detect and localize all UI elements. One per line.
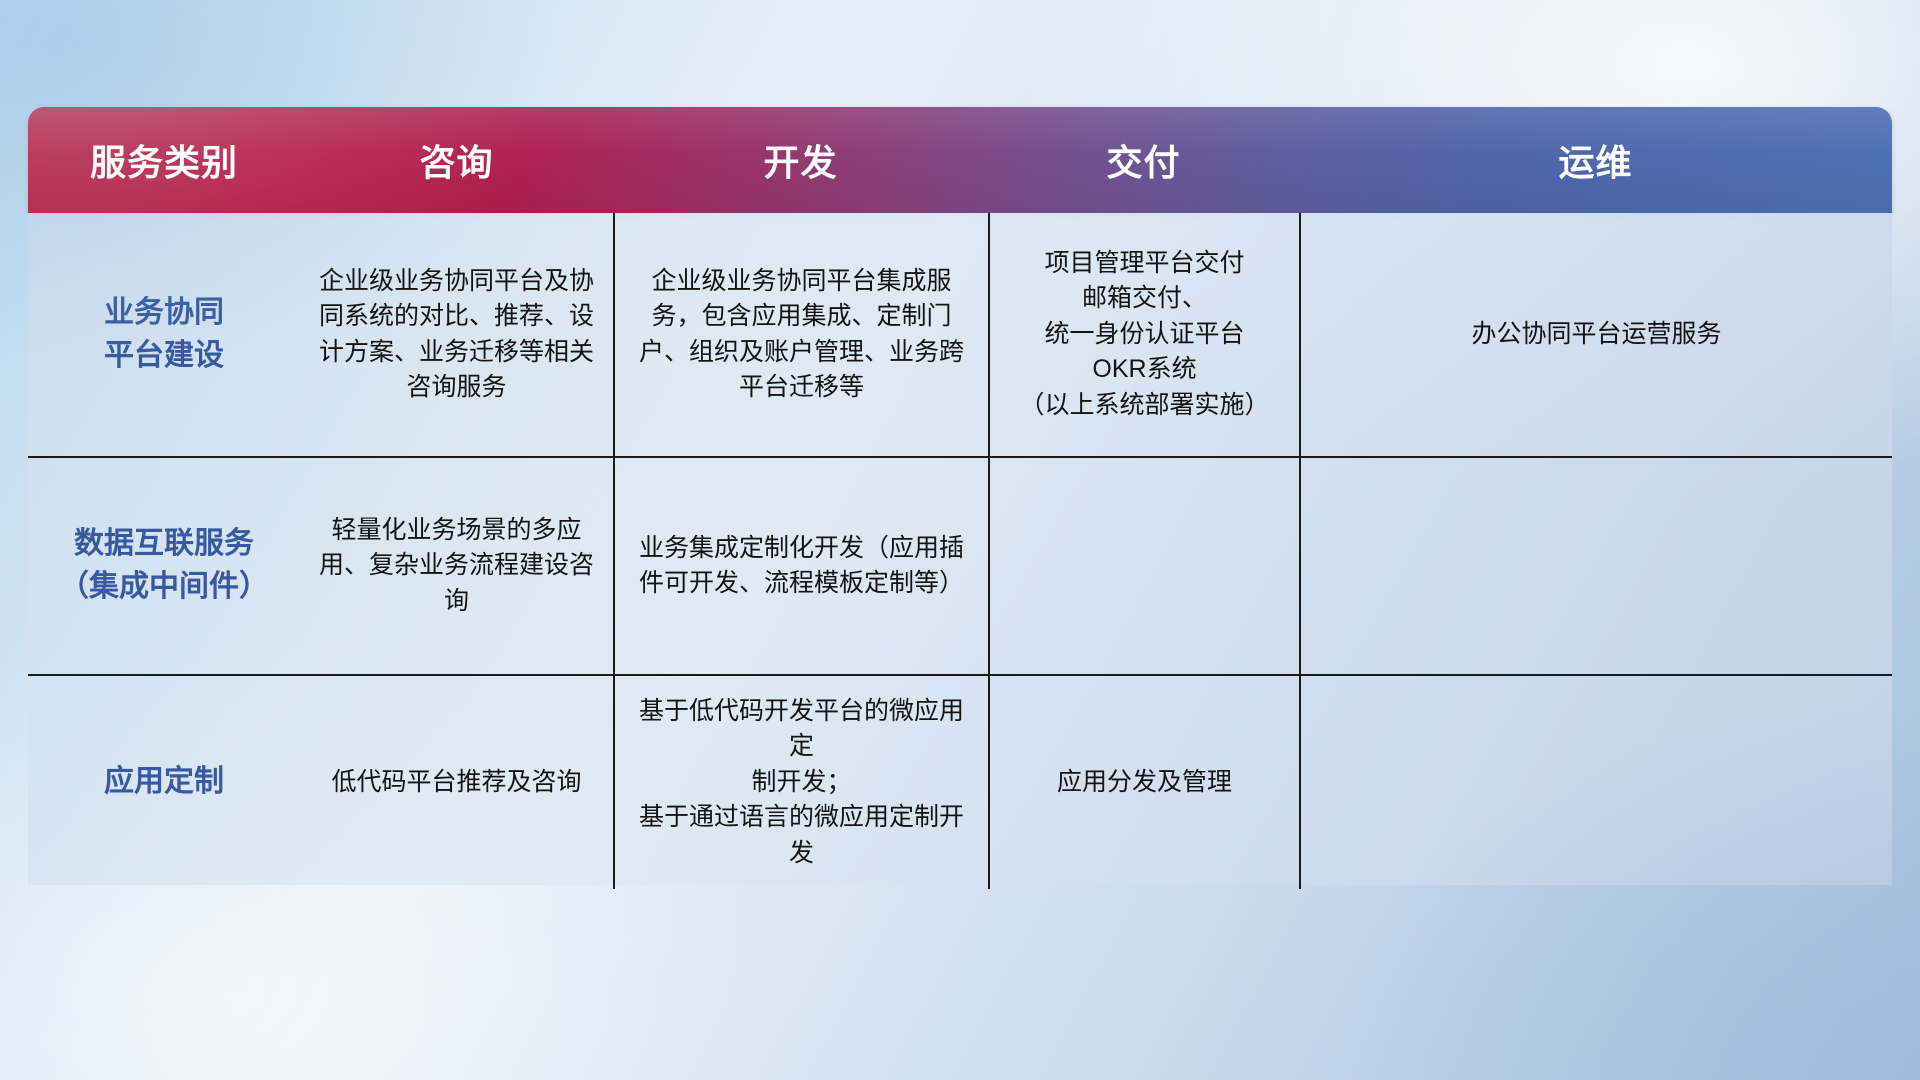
- table-header-cell-category: 服务类别: [28, 134, 300, 186]
- cell-operations: [1299, 458, 1892, 674]
- cell-delivery-line: 项目管理平台交付: [1019, 246, 1269, 282]
- row-category-label: 应用定制: [28, 676, 300, 889]
- service-matrix-table: 服务类别 咨询 开发 交付 运维 业务协同 平台建设 企业级业务协同平台及协同系…: [28, 107, 1892, 947]
- cell-delivery-line: 邮箱交付、: [1019, 281, 1269, 317]
- cell-development: 企业级业务协同平台集成服务，包含应用集成、定制门户、组织及账户管理、业务跨平台迁…: [613, 213, 988, 456]
- cell-development-line: 基于通过语言的微应用定制开发: [629, 800, 974, 871]
- cell-development: 基于低代码开发平台的微应用定 制开发； 基于通过语言的微应用定制开发: [613, 676, 988, 889]
- cell-delivery-line: OKR系统: [1019, 352, 1269, 388]
- cell-delivery-line: （以上系统部署实施）: [1019, 388, 1269, 424]
- row-category-line: 数据互联服务: [59, 523, 269, 566]
- cell-consulting: 企业级业务协同平台及协同系统的对比、推荐、设计方案、业务迁移等相关咨询服务: [300, 213, 613, 456]
- row-category-line: （集成中间件）: [59, 566, 269, 609]
- cell-delivery: 应用分发及管理: [988, 676, 1299, 889]
- cell-operations: 办公协同平台运营服务: [1299, 213, 1892, 456]
- table-header-cell-delivery: 交付: [988, 134, 1299, 186]
- table-body: 业务协同 平台建设 企业级业务协同平台及协同系统的对比、推荐、设计方案、业务迁移…: [28, 213, 1892, 885]
- table-header-cell-operations: 运维: [1299, 134, 1892, 186]
- table-header-cell-consulting: 咨询: [300, 134, 613, 186]
- row-category-label: 业务协同 平台建设: [28, 213, 300, 456]
- slide-background: 服务类别 咨询 开发 交付 运维 业务协同 平台建设 企业级业务协同平台及协同系…: [0, 0, 1920, 1080]
- cell-development-line: 制开发；: [629, 765, 974, 801]
- table-header-cell-development: 开发: [613, 134, 988, 186]
- cell-operations: [1299, 676, 1892, 889]
- cell-delivery: 项目管理平台交付 邮箱交付、 统一身份认证平台 OKR系统 （以上系统部署实施）: [988, 213, 1299, 456]
- row-category-line: 业务协同: [104, 292, 224, 335]
- table-row: 业务协同 平台建设 企业级业务协同平台及协同系统的对比、推荐、设计方案、业务迁移…: [28, 213, 1892, 458]
- table-row: 数据互联服务 （集成中间件） 轻量化业务场景的多应用、复杂业务流程建设咨询 业务…: [28, 458, 1892, 676]
- cell-delivery-line: 统一身份认证平台: [1019, 317, 1269, 353]
- table-header-row: 服务类别 咨询 开发 交付 运维: [28, 107, 1892, 213]
- row-category-label: 数据互联服务 （集成中间件）: [28, 458, 300, 674]
- row-category-line: 平台建设: [104, 335, 224, 378]
- cell-development-line: 基于低代码开发平台的微应用定: [629, 694, 974, 765]
- row-category-line: 应用定制: [104, 761, 224, 804]
- cell-consulting: 低代码平台推荐及咨询: [300, 676, 613, 889]
- cell-delivery: [988, 458, 1299, 674]
- cell-consulting: 轻量化业务场景的多应用、复杂业务流程建设咨询: [300, 458, 613, 674]
- table-row: 应用定制 低代码平台推荐及咨询 基于低代码开发平台的微应用定 制开发； 基于通过…: [28, 676, 1892, 889]
- cell-development: 业务集成定制化开发（应用插件可开发、流程模板定制等）: [613, 458, 988, 674]
